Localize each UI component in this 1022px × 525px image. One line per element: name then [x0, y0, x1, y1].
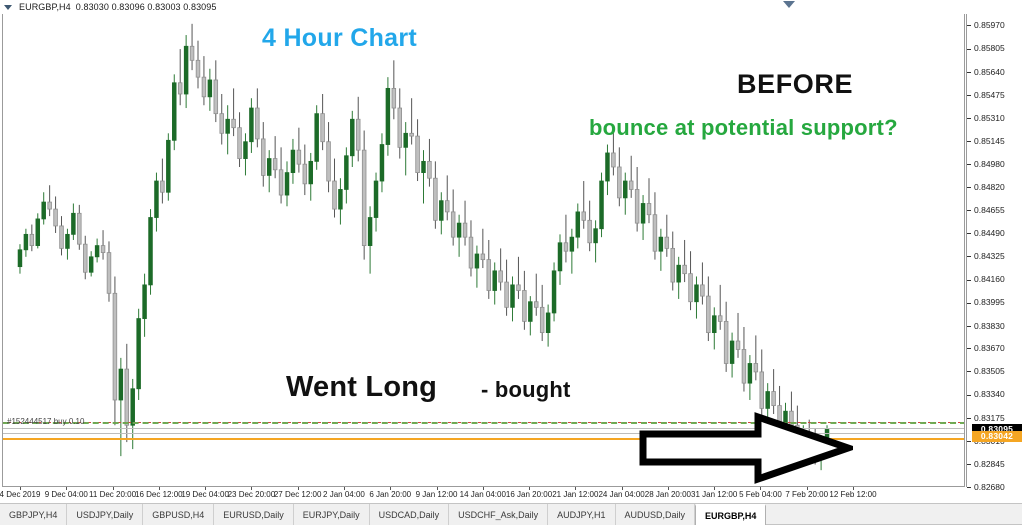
chevron-down-icon[interactable]: [4, 5, 12, 10]
time-tick-label: 23 Dec 20:00: [228, 490, 276, 499]
annotation-timeframe: 4 Hour Chart: [262, 24, 417, 53]
price-tick: 0.83995: [967, 297, 1022, 307]
annotation-bought: - bought: [481, 377, 571, 403]
price-tick: 0.84325: [967, 251, 1022, 261]
time-tick-label: 27 Dec 12:00: [274, 490, 322, 499]
chart-tab-gbpjpy-h4[interactable]: GBPJPY,H4: [0, 504, 67, 525]
price-tick: 0.84980: [967, 159, 1022, 169]
time-tick-label: 19 Dec 04:00: [181, 490, 229, 499]
chart-symbol-label: EURGBP,H4: [19, 2, 71, 12]
chart-tab-eurusd-daily[interactable]: EURUSD,Daily: [214, 504, 294, 525]
chart-tab-usdjpy-daily[interactable]: USDJPY,Daily: [67, 504, 143, 525]
chart-tab-eurjpy-daily[interactable]: EURJPY,Daily: [294, 504, 370, 525]
metatrader-chart-window: EURGBP,H4 0.83030 0.83096 0.83003 0.8309…: [0, 0, 1022, 525]
time-tick-label: 11 Dec 20:00: [89, 490, 136, 499]
annotation-went-long: Went Long: [286, 371, 437, 404]
price-tick: 0.85640: [967, 67, 1022, 77]
time-tick-label: 9 Dec 04:00: [45, 490, 88, 499]
chart-tab-audjpy-h1[interactable]: AUDJPY,H1: [548, 504, 615, 525]
price-tick: 0.85145: [967, 136, 1022, 146]
time-tick-label: 16 Jan 20:00: [506, 490, 552, 499]
annotation-bounce-support: bounce at potential support?: [589, 115, 898, 141]
chart-tab-usdchf-ask-daily[interactable]: USDCHF_Ask,Daily: [449, 504, 548, 525]
right-block-arrow-icon: [638, 412, 853, 487]
price-tick: 0.84160: [967, 274, 1022, 284]
tab-bar-filler: [766, 504, 1022, 525]
chart-tab-audusd-daily[interactable]: AUDUSD,Daily: [616, 504, 696, 525]
time-tick-label: 16 Dec 12:00: [135, 490, 183, 499]
price-tick: 0.85805: [967, 43, 1022, 53]
chart-ohlc-values: 0.83030 0.83096 0.83003 0.83095: [76, 2, 217, 12]
price-tick: 0.84820: [967, 182, 1022, 192]
annotation-before: BEFORE: [737, 69, 853, 100]
time-tick-label: 21 Jan 12:00: [552, 490, 598, 499]
chevron-down-icon[interactable]: [783, 1, 795, 8]
price-tick: 0.83175: [967, 413, 1022, 423]
time-tick-label: 2 Jan 04:00: [323, 490, 365, 499]
price-tick: 0.83340: [967, 389, 1022, 399]
time-tick-label: 31 Jan 12:00: [691, 490, 737, 499]
chart-tab-usdcad-daily[interactable]: USDCAD,Daily: [370, 504, 450, 525]
chart-plot-area[interactable]: #152444517 buy 0.10 4 Hour Chart BEFORE …: [2, 14, 965, 487]
time-tick-label: 6 Jan 20:00: [369, 490, 411, 499]
time-tick-label: 4 Dec 2019: [0, 490, 40, 499]
order-label: #152444517 buy 0.10: [7, 417, 84, 426]
quote-header: EURGBP,H4 0.83030 0.83096 0.83003 0.8309…: [0, 0, 1022, 14]
price-tick: 0.83830: [967, 321, 1022, 331]
order-price-badge: 0.83042: [972, 431, 1022, 442]
price-tick: 0.82845: [967, 459, 1022, 469]
time-tick-label: 5 Feb 04:00: [739, 490, 782, 499]
time-tick-label: 9 Jan 12:00: [416, 490, 458, 499]
time-tick-label: 7 Feb 20:00: [785, 490, 828, 499]
chart-tab-bar[interactable]: GBPJPY,H4USDJPY,DailyGBPUSD,H4EURUSD,Dai…: [0, 503, 1022, 525]
price-tick: 0.85310: [967, 113, 1022, 123]
time-tick-label: 28 Jan 20:00: [645, 490, 691, 499]
time-tick-label: 12 Feb 12:00: [829, 490, 876, 499]
price-tick: 0.84490: [967, 228, 1022, 238]
time-axis[interactable]: 4 Dec 20199 Dec 04:0011 Dec 20:0016 Dec …: [2, 487, 965, 503]
price-axis[interactable]: 0.859700.858050.856400.854750.853100.851…: [966, 14, 1022, 487]
chart-tab-eurgbp-h4[interactable]: EURGBP,H4: [695, 504, 766, 525]
price-tick: 0.83505: [967, 366, 1022, 376]
price-tick: 0.85970: [967, 20, 1022, 30]
chart-tab-gbpusd-h4[interactable]: GBPUSD,H4: [143, 504, 214, 525]
time-tick-label: 24 Jan 04:00: [598, 490, 644, 499]
price-tick: 0.83670: [967, 343, 1022, 353]
price-tick: 0.82680: [967, 482, 1022, 492]
price-tick: 0.84655: [967, 205, 1022, 215]
price-tick: 0.85475: [967, 90, 1022, 100]
time-tick-label: 14 Jan 04:00: [460, 490, 506, 499]
